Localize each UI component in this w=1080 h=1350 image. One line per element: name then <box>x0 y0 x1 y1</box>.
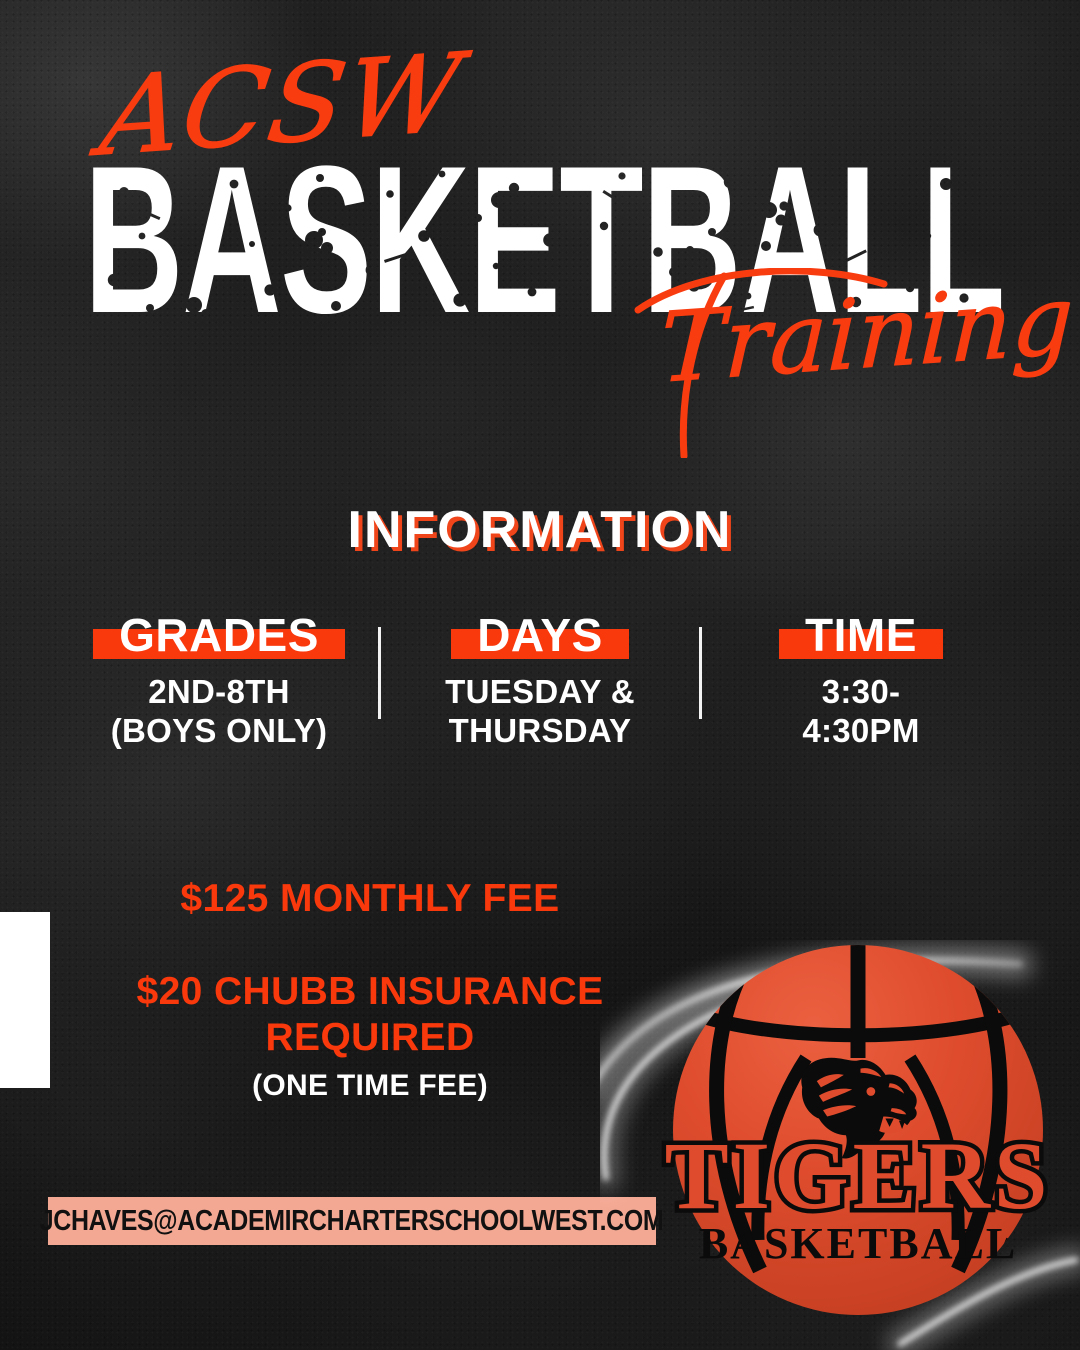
grades-value: 2ND-8TH (BOYS ONLY) <box>111 673 328 751</box>
insurance-fee-line-2: REQUIRED <box>60 1015 680 1061</box>
grades-line-2: (BOYS ONLY) <box>111 712 328 751</box>
monthly-fee-text: $125 MONTHLY FEE <box>60 878 680 921</box>
poster-canvas: ACSW <box>0 0 1080 1350</box>
section-heading-information: INFORMATION <box>0 500 1080 560</box>
insurance-fee-text: $20 CHUBB INSURANCE REQUIRED <box>60 969 680 1061</box>
grades-heading: GRADES <box>109 612 329 659</box>
info-columns: GRADES 2ND-8TH (BOYS ONLY) DAYS TUESDAY … <box>60 612 1020 792</box>
title-script-training: Training <box>659 271 1075 396</box>
time-line-1: 3:30- <box>802 673 919 712</box>
days-value: TUESDAY & THURSDAY <box>445 673 635 751</box>
info-column-time: TIME 3:30- 4:30PM <box>702 612 1020 751</box>
info-column-days: DAYS TUESDAY & THURSDAY <box>381 612 699 751</box>
time-heading: TIME <box>795 612 927 659</box>
contact-email-bar[interactable]: JCHAVES@ACADEMIRCHARTERSCHOOLWEST.COM <box>48 1197 656 1245</box>
fees-block: $125 MONTHLY FEE $20 CHUBB INSURANCE REQ… <box>60 878 680 1103</box>
decorative-white-tab <box>0 912 50 1088</box>
eyebrow-script-acsw: ACSW <box>95 40 468 172</box>
grades-line-1: 2ND-8TH <box>111 673 328 712</box>
logo-sport-name: BASKETBALL <box>699 1219 1017 1268</box>
time-heading-label: TIME <box>805 609 917 661</box>
days-heading: DAYS <box>467 612 613 659</box>
days-line-2: THURSDAY <box>445 712 635 751</box>
grades-heading-label: GRADES <box>119 609 319 661</box>
contact-email-text[interactable]: JCHAVES@ACADEMIRCHARTERSCHOOLWEST.COM <box>40 1205 664 1238</box>
headline-block: ACSW <box>0 0 1080 470</box>
one-time-fee-note: (ONE TIME FEE) <box>60 1069 680 1103</box>
time-value: 3:30- 4:30PM <box>802 673 919 751</box>
insurance-fee-line-1: $20 CHUBB INSURANCE <box>60 969 680 1015</box>
days-heading-label: DAYS <box>477 609 603 661</box>
time-line-2: 4:30PM <box>802 712 919 751</box>
days-line-1: TUESDAY & <box>445 673 635 712</box>
logo-team-name: TIGERS <box>665 1122 1052 1229</box>
tigers-basketball-logo: TIGERS BASKETBALL <box>600 940 1080 1350</box>
info-column-grades: GRADES 2ND-8TH (BOYS ONLY) <box>60 612 378 751</box>
